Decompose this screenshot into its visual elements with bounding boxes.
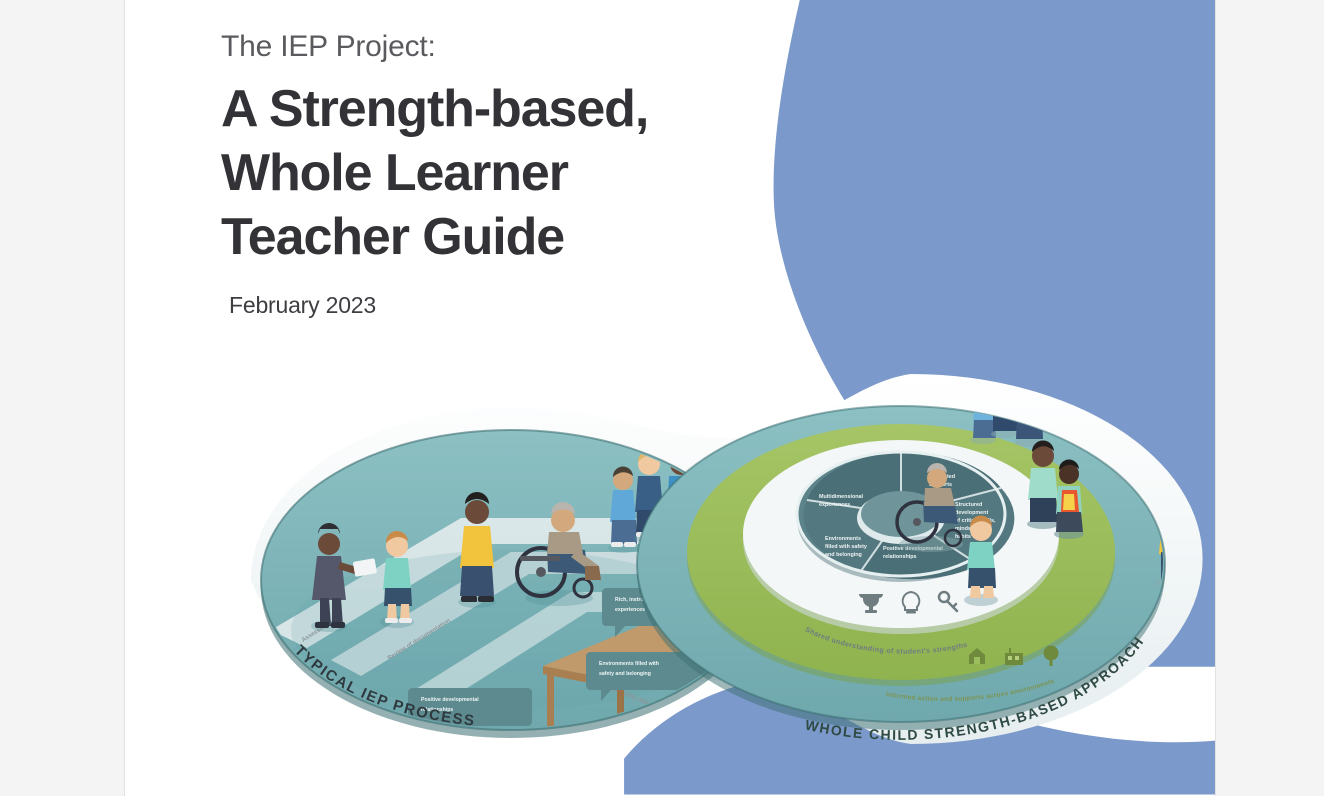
wheel-label-structured: Structured (955, 502, 982, 508)
cover-title-block: The IEP Project: A Strength-based, Whole… (221, 28, 781, 319)
wheel-label-multidimensional: Multidimensional (819, 494, 864, 500)
svg-text:safety and belonging: safety and belonging (599, 671, 651, 677)
title-line-1: A Strength-based, (221, 80, 648, 138)
wheel-label-environments: Environments (825, 536, 861, 542)
svg-text:and belonging: and belonging (825, 552, 862, 558)
svg-text:relationships: relationships (883, 554, 917, 560)
document-eyebrow: The IEP Project: (221, 28, 781, 66)
screenshot-viewport: The IEP Project: A Strength-based, Whole… (0, 0, 1324, 796)
document-date: February 2023 (229, 292, 781, 319)
document-page: The IEP Project: A Strength-based, Whole… (124, 0, 1216, 796)
title-line-3: Teacher Guide (221, 208, 564, 266)
svg-text:experiences: experiences (819, 502, 850, 508)
svg-text:development: development (955, 510, 988, 516)
svg-text:Positive developmental: Positive developmental (421, 697, 479, 703)
svg-text:Integrated: Integrated (471, 757, 496, 763)
page-title: A Strength-based, Whole Learner Teacher … (221, 78, 781, 270)
callout-integrated-supports: Integrated supports (458, 748, 540, 795)
svg-text:habits: habits (955, 534, 971, 540)
cover-illustration: Assessment Review of documentation Eligi… (211, 330, 1211, 796)
title-line-2: Whole Learner (221, 144, 568, 202)
svg-text:experiences: experiences (615, 607, 645, 613)
svg-text:supports: supports (471, 767, 493, 773)
svg-text:filled with safety: filled with safety (825, 544, 867, 550)
svg-text:Environments filled with: Environments filled with (599, 661, 659, 667)
